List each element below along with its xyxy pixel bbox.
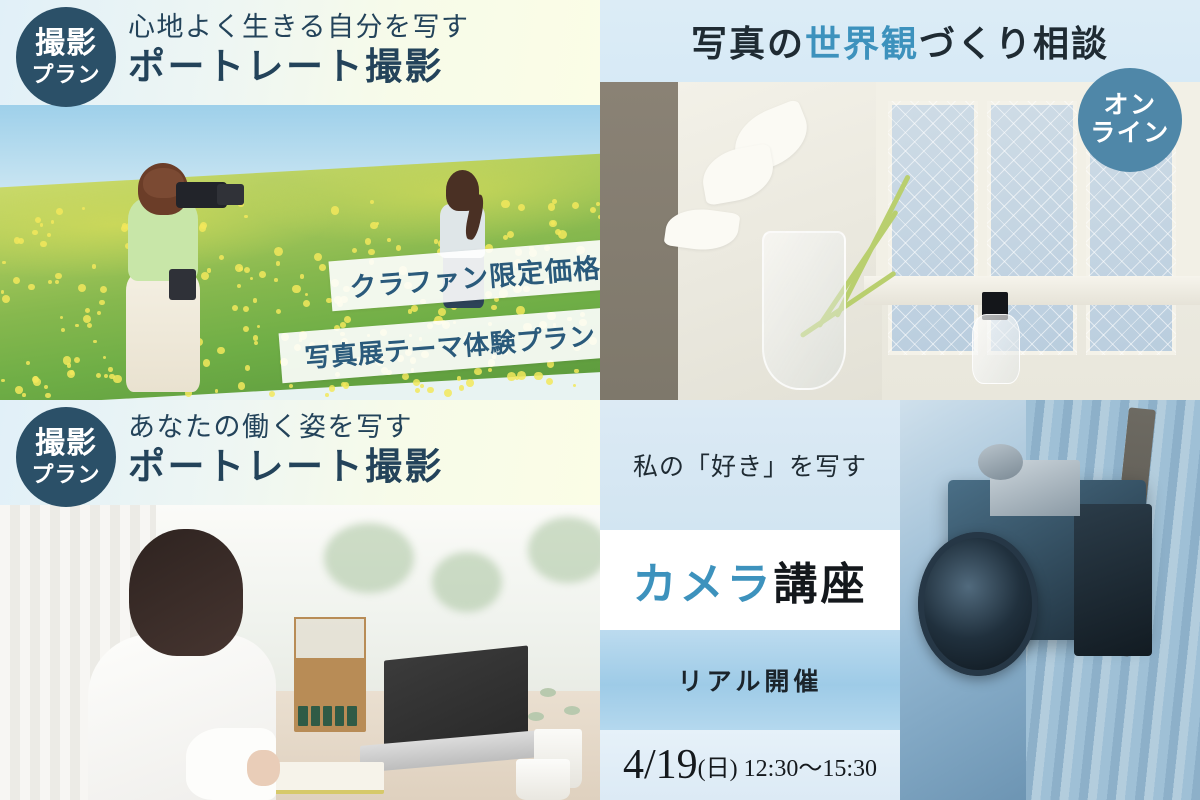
flower-speck — [48, 280, 53, 285]
flower-speck — [352, 248, 357, 253]
plan-badge-line1: 撮影 — [35, 429, 97, 459]
window-sill — [864, 276, 1200, 305]
flower-speck — [572, 202, 579, 209]
flower-speck — [1, 379, 5, 383]
oil-vial — [298, 706, 307, 727]
course-date: 4/19 — [623, 741, 698, 789]
flower-speck — [546, 378, 553, 385]
title-accent: 世界観 — [805, 24, 919, 64]
flower-speck — [85, 308, 90, 313]
camera-bag — [169, 269, 195, 300]
hair — [129, 529, 243, 657]
flower-speck — [413, 379, 420, 386]
online-badge-line1: オン — [1103, 92, 1156, 120]
flower-speck — [243, 326, 250, 333]
flower-speck — [74, 357, 80, 363]
flower-speck — [503, 235, 508, 240]
flower-speck — [2, 261, 5, 264]
flower-speck — [40, 223, 43, 226]
flower-speck — [459, 385, 465, 391]
flower-speck — [245, 365, 250, 370]
flower-speck — [276, 261, 281, 266]
flower-speck — [274, 247, 283, 256]
flower-speck — [82, 207, 85, 210]
flower-speck — [67, 363, 71, 367]
flower-speck — [325, 393, 329, 397]
header-top-right: 写真の世界観づくり相談 — [600, 0, 1200, 82]
plant-leaf — [564, 706, 580, 715]
camera-dial — [978, 444, 1023, 480]
foliage — [528, 517, 600, 583]
flower-speck — [40, 241, 47, 248]
foliage — [324, 523, 414, 593]
flower-speck — [549, 220, 557, 228]
flower-speck — [319, 264, 326, 271]
flower-speck — [250, 277, 253, 280]
course-title-band: カメラ講座 — [600, 530, 900, 630]
flower-speck — [488, 368, 492, 372]
flower-speck — [292, 285, 301, 294]
flower-speck — [22, 393, 26, 397]
flower-speck — [238, 382, 245, 389]
flower-speck — [444, 389, 453, 398]
flower-speck — [415, 388, 420, 393]
flower-speck — [45, 393, 50, 398]
flower-speck — [558, 230, 567, 239]
plan-badge-line2: プラン — [31, 464, 100, 486]
flower-speck — [303, 300, 310, 307]
woman-figure — [72, 529, 276, 800]
flower-speck — [289, 384, 293, 388]
flower-speck — [254, 341, 258, 345]
essential-oil-box — [294, 658, 366, 732]
header-subtitle: 心地よく生きる自分を写す — [128, 12, 469, 43]
flower-speck — [573, 384, 576, 387]
flower-speck — [35, 217, 41, 223]
flower-speck — [515, 376, 519, 380]
flower-speck — [60, 316, 63, 319]
header-subtitle: あなたの働く姿を写す — [128, 412, 444, 443]
flower-speck — [590, 207, 596, 213]
online-badge: オン ライン — [1078, 68, 1182, 172]
flower-speck — [370, 222, 377, 229]
flower-speck — [55, 280, 59, 284]
header-title: ポートレート撮影 — [128, 46, 469, 90]
panel-bottom-left: 撮影 プラン あなたの働く姿を写す ポートレート撮影 — [0, 400, 600, 800]
foliage — [432, 552, 502, 612]
flower-speck — [274, 278, 278, 282]
oil-vial — [347, 706, 356, 727]
flower-speck — [61, 328, 65, 332]
flower-speck — [491, 305, 497, 311]
flower-speck — [253, 335, 259, 341]
flower-speck — [331, 206, 340, 215]
flower-speck — [396, 245, 402, 251]
flower-speck — [75, 324, 78, 327]
camera-lens-icon — [918, 532, 1038, 676]
title-part-2: づくり相談 — [919, 24, 1109, 64]
camera-lens-icon — [217, 184, 243, 205]
coffee-mug — [516, 759, 570, 800]
flower-speck — [534, 372, 542, 380]
plan-badge-line1: 撮影 — [35, 29, 97, 59]
flower-speck — [387, 238, 391, 242]
header-text: あなたの働く姿を写す ポートレート撮影 — [128, 412, 444, 490]
flower-speck — [243, 306, 250, 313]
flower-speck — [269, 391, 275, 397]
flower-speck — [329, 385, 336, 392]
camera-grip — [1074, 504, 1152, 656]
course-title-plain: 講座 — [774, 560, 868, 609]
window-pane — [888, 101, 978, 355]
model-hair — [446, 170, 479, 211]
flower-speck — [13, 277, 20, 284]
oil-box-lid — [294, 617, 366, 664]
course-title: カメラ講座 — [633, 548, 868, 612]
course-format-band: リアル開催 — [600, 630, 900, 730]
flower-speck — [300, 274, 304, 278]
oil-vial — [311, 706, 320, 727]
course-title-accent: カメラ — [633, 560, 774, 609]
course-date-detail: (日) 12:30〜15:30 — [698, 748, 877, 783]
poster-grid: クラファン限定価格 写真展テーマ体験プラン 撮影 プラン 心地よく生きる自分を写… — [0, 0, 1200, 800]
flower-speck — [244, 267, 250, 273]
flower-speck — [97, 311, 101, 315]
flower-speck — [33, 378, 41, 386]
flower-speck — [244, 215, 248, 219]
flower-speck — [466, 379, 474, 387]
flower-speck — [55, 273, 62, 280]
flower-speck — [28, 284, 34, 290]
course-subtitle: 私の「好き」を写す — [633, 447, 867, 483]
consult-title: 写真の世界観づくり相談 — [691, 15, 1109, 67]
flower-speck — [408, 309, 413, 314]
flower-speck — [44, 385, 48, 389]
plant-leaf — [528, 712, 544, 721]
flower-speck — [438, 308, 446, 316]
photographer-figure — [102, 158, 222, 394]
perfume-bottle — [972, 314, 1020, 384]
flower-speck — [474, 368, 481, 375]
flower-speck — [47, 233, 52, 238]
flower-speck — [239, 267, 243, 271]
flower-speck — [314, 253, 322, 261]
flower-speck — [32, 230, 38, 236]
flower-speck — [420, 384, 424, 388]
flower-speck — [365, 238, 371, 244]
panel-top-left: クラファン限定価格 写真展テーマ体験プラン 撮影 プラン 心地よく生きる自分を写… — [0, 0, 600, 400]
oil-vial — [335, 706, 344, 727]
flower-speck — [518, 204, 525, 211]
hand — [247, 750, 280, 786]
flower-speck — [507, 231, 514, 238]
header-bottom-left: 撮影 プラン あなたの働く姿を写す ポートレート撮影 — [0, 400, 600, 505]
flower-speck — [232, 305, 238, 311]
plant-leaf — [540, 688, 556, 697]
flower-speck — [253, 298, 257, 302]
flower-speck — [78, 284, 86, 292]
flower-speck — [51, 220, 54, 223]
plan-badge-line2: プラン — [31, 64, 100, 86]
panel-top-right: 写真の世界観づくり相談 オン ライン — [600, 0, 1200, 400]
oil-vial — [323, 706, 332, 727]
flower-speck — [2, 295, 10, 303]
flower-speck — [574, 369, 579, 374]
flower-speck — [93, 340, 97, 344]
flower-speck — [343, 382, 350, 389]
flower-speck — [87, 323, 93, 329]
flower-speck — [457, 376, 462, 381]
header-title: ポートレート撮影 — [128, 446, 444, 490]
header-text: 心地よく生きる自分を写す ポートレート撮影 — [128, 12, 469, 90]
plan-badge: 撮影 プラン — [16, 407, 116, 507]
flower-speck — [26, 361, 30, 365]
flower-speck — [276, 309, 281, 314]
panel-bottom-right: 私の「好き」を写す カメラ講座 リアル開催 4/19 (日) 12:30〜15:… — [600, 400, 1200, 800]
course-subtitle-band: 私の「好き」を写す — [600, 400, 900, 530]
title-part-1: 写真の — [691, 24, 805, 64]
desk-photo — [0, 505, 600, 800]
flower-speck — [340, 322, 346, 328]
course-date-band: 4/19 (日) 12:30〜15:30 — [600, 730, 900, 800]
course-format: リアル開催 — [678, 662, 823, 698]
flower-speck — [548, 203, 555, 210]
flower-speck — [56, 208, 63, 215]
flower-speck — [427, 387, 434, 394]
glass-vase — [762, 231, 846, 390]
camera-photo — [900, 400, 1200, 800]
flower-speck — [96, 373, 101, 378]
flower-speck — [257, 325, 260, 328]
plan-badge: 撮影 プラン — [16, 7, 116, 107]
flower-speck — [259, 271, 266, 278]
flower-speck — [370, 200, 374, 204]
flower-speck — [92, 264, 97, 269]
online-badge-line2: ライン — [1090, 120, 1170, 148]
flower-speck — [1, 290, 5, 294]
flower-speck — [305, 293, 308, 296]
flower-speck — [501, 200, 509, 208]
flower-speck — [368, 249, 374, 255]
header-top-left: 撮影 プラン 心地よく生きる自分を写す ポートレート撮影 — [0, 0, 600, 105]
flower-speck — [237, 284, 241, 288]
